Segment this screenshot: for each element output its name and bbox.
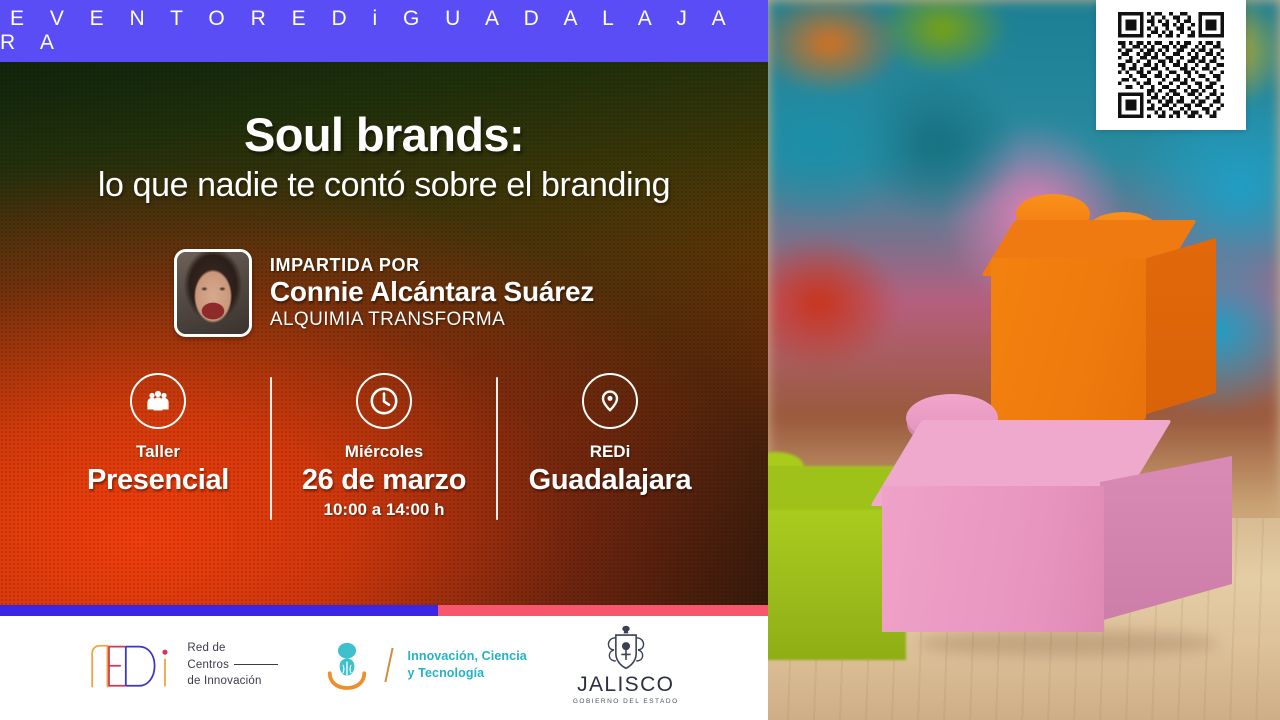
speaker-block: IMPARTIDA POR Connie Alcántara Suárez AL… [0, 249, 768, 337]
title-block: Soul brands: lo que nadie te contó sobre… [0, 110, 768, 205]
speaker-kicker: IMPARTIDA POR [270, 255, 594, 276]
redi-line-1: Red de [187, 640, 278, 657]
pink-brick [896, 398, 1242, 698]
redi-wordmark-icon [89, 637, 177, 693]
event-details-row: Taller Presencial Miércoles 26 de marzo [0, 373, 768, 520]
speaker-name: Connie Alcántara Suárez [270, 276, 594, 308]
pink-brick-side [1100, 456, 1232, 621]
detail-date-big: 26 de marzo [302, 464, 466, 498]
redi-rule [234, 664, 278, 665]
speaker-text: IMPARTIDA POR Connie Alcántara Suárez AL… [270, 255, 594, 330]
orange-brick-front [991, 258, 1146, 420]
poster-artwork: Soul brands: lo que nadie te contó sobre… [0, 62, 768, 605]
orange-brick [998, 210, 1226, 426]
orange-brick-side [1140, 238, 1216, 416]
footer-logos: Red de Centros de Innovación Innovación,… [0, 616, 768, 720]
accent-bar-pink [438, 605, 768, 616]
detail-modality-small: Taller [136, 443, 180, 462]
jalisco-crest-icon [597, 624, 655, 672]
detail-location-big: Guadalajara [529, 464, 692, 498]
detail-location: REDi Guadalajara [498, 373, 722, 520]
detail-location-small: REDi [590, 443, 631, 462]
qr-card[interactable] [1096, 0, 1246, 130]
redi-line-3: de Innovación [187, 673, 278, 690]
lego-bricks-photo [768, 0, 1280, 720]
icyt-logo-text: Innovación, Ciencia y Tecnología [408, 648, 527, 681]
icyt-divider [384, 648, 393, 682]
detail-date-time: 10:00 a 14:00 h [324, 500, 445, 520]
column-divider [496, 377, 498, 520]
event-poster: E V E N T O R E D i G U A D A L A J A R … [0, 0, 768, 720]
detail-date: Miércoles 26 de marzo 10:00 a 14:00 h [272, 373, 496, 520]
redi-logo: Red de Centros de Innovación [89, 637, 278, 693]
poster-screenshot: E V E N T O R E D i G U A D A L A J A R … [0, 0, 1280, 720]
qr-code[interactable] [1118, 12, 1224, 118]
avatar-photo [177, 252, 249, 334]
accent-bar [0, 605, 768, 616]
page-subtitle: lo que nadie te contó sobre el branding [0, 166, 768, 205]
pink-brick-front [882, 486, 1104, 632]
detail-date-small: Miércoles [345, 443, 423, 462]
clock-icon [356, 373, 412, 429]
redi-logo-text: Red de Centros de Innovación [187, 640, 278, 690]
column-divider [270, 377, 272, 520]
redi-line-2: Centros [187, 659, 229, 671]
detail-modality: Taller Presencial [46, 373, 270, 520]
avatar [174, 249, 252, 337]
location-pin-icon [582, 373, 638, 429]
accent-bar-blue [0, 605, 438, 616]
icyt-logo: Innovación, Ciencia y Tecnología [324, 639, 527, 691]
detail-modality-big: Presencial [87, 464, 229, 498]
jalisco-logo: JALISCO GOBIERNO DEL ESTADO [573, 624, 679, 706]
speaker-organization: ALQUIMIA TRANSFORMA [270, 309, 594, 331]
jalisco-name: JALISCO [577, 674, 674, 695]
icyt-line-2: y Tecnología [408, 665, 527, 682]
page-title: Soul brands: [0, 110, 768, 160]
icyt-line-1: Innovación, Ciencia [408, 648, 527, 665]
icyt-flower-icon [324, 639, 370, 691]
jalisco-sub: GOBIERNO DEL ESTADO [573, 699, 679, 706]
event-banner: E V E N T O R E D i G U A D A L A J A R … [0, 0, 768, 62]
people-icon [130, 373, 186, 429]
